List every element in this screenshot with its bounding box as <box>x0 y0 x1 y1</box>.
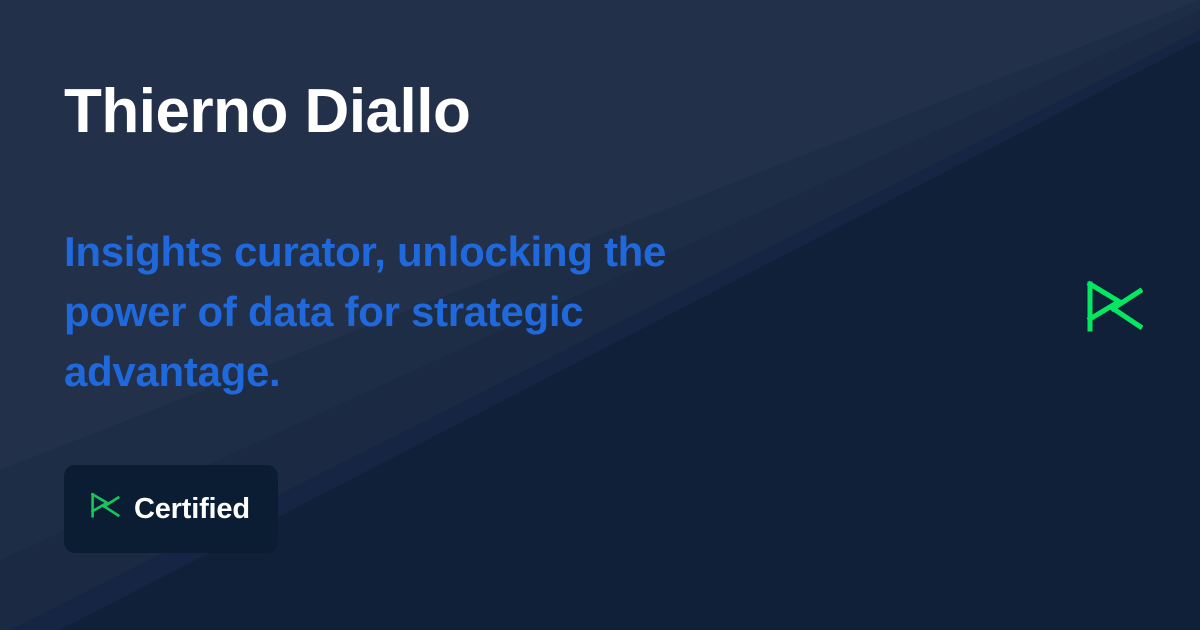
status-badge-label: Certified <box>134 493 250 526</box>
datacamp-logo-icon <box>90 492 120 526</box>
profile-headline: Insights curator, unlocking the power of… <box>64 222 704 402</box>
datacamp-logo-icon <box>1085 280 1143 348</box>
page-title: Thierno Diallo <box>64 78 470 146</box>
profile-share-card: Thierno Diallo Insights curator, unlocki… <box>0 0 1200 630</box>
card-content: Thierno Diallo Insights curator, unlocki… <box>64 0 764 630</box>
status-badge: Certified <box>64 465 278 553</box>
